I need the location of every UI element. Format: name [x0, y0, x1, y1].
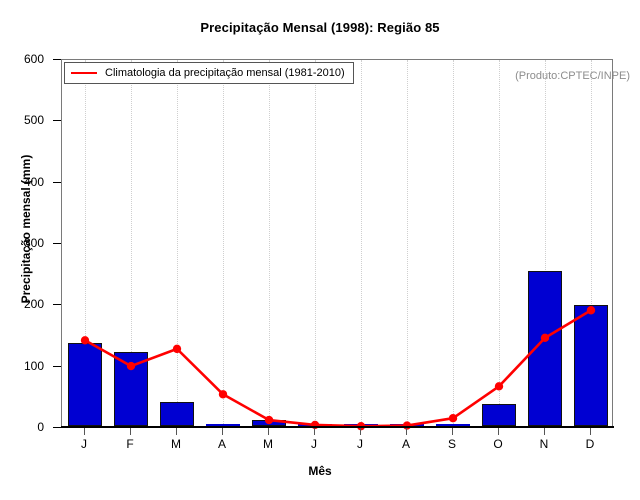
data-point-marker [81, 336, 89, 344]
y-tick-mark [53, 120, 61, 121]
x-tick-mark [590, 428, 591, 435]
x-tick-label: J [299, 437, 329, 451]
data-point-marker [127, 362, 135, 370]
y-tick-label: 100 [0, 360, 44, 372]
x-tick-label: F [115, 437, 145, 451]
y-tick-mark [53, 182, 61, 183]
x-tick-label: J [345, 437, 375, 451]
y-tick-label: 600 [0, 53, 44, 65]
y-axis-title: Precipitação mensal (mm) [19, 109, 33, 349]
x-tick-label: S [437, 437, 467, 451]
y-tick-mark [53, 304, 61, 305]
x-tick-label: M [253, 437, 283, 451]
x-tick-mark [314, 428, 315, 435]
x-tick-label: J [69, 437, 99, 451]
x-tick-mark [452, 428, 453, 435]
x-tick-mark [406, 428, 407, 435]
x-tick-label: O [483, 437, 513, 451]
x-tick-mark [268, 428, 269, 435]
x-tick-mark [360, 428, 361, 435]
legend-line-swatch-icon [71, 72, 97, 74]
y-tick-label: 0 [0, 421, 44, 433]
x-tick-label: M [161, 437, 191, 451]
chart-legend: Climatologia da precipitação mensal (198… [64, 62, 354, 84]
x-tick-mark [84, 428, 85, 435]
x-tick-mark [498, 428, 499, 435]
x-tick-mark [176, 428, 177, 435]
product-watermark: (Produto:CPTEC/INPE) [515, 70, 630, 82]
x-tick-mark [222, 428, 223, 435]
y-tick-mark [53, 427, 61, 428]
y-tick-mark [53, 59, 61, 60]
x-tick-mark [544, 428, 545, 435]
x-axis-title: Mês [0, 464, 640, 478]
data-point-marker [219, 390, 227, 398]
y-tick-mark [53, 366, 61, 367]
y-tick-mark [53, 243, 61, 244]
x-axis-baseline [61, 426, 614, 428]
data-point-marker [587, 306, 595, 314]
data-point-marker [495, 382, 503, 390]
x-tick-mark [130, 428, 131, 435]
data-point-marker [541, 334, 549, 342]
climatology-line [85, 310, 591, 426]
chart-title: Precipitação Mensal (1998): Região 85 [0, 20, 640, 35]
data-point-marker [265, 416, 273, 424]
x-tick-label: N [529, 437, 559, 451]
x-tick-label: A [207, 437, 237, 451]
precipitation-chart: Precipitação Mensal (1998): Região 85 01… [0, 0, 640, 500]
plot-inner [62, 60, 612, 426]
plot-area [61, 59, 613, 427]
data-point-marker [449, 414, 457, 422]
data-point-marker [173, 345, 181, 353]
climatology-line-series [62, 60, 614, 428]
x-tick-label: A [391, 437, 421, 451]
x-tick-label: D [575, 437, 605, 451]
legend-entry-label: Climatologia da precipitação mensal (198… [105, 67, 345, 79]
